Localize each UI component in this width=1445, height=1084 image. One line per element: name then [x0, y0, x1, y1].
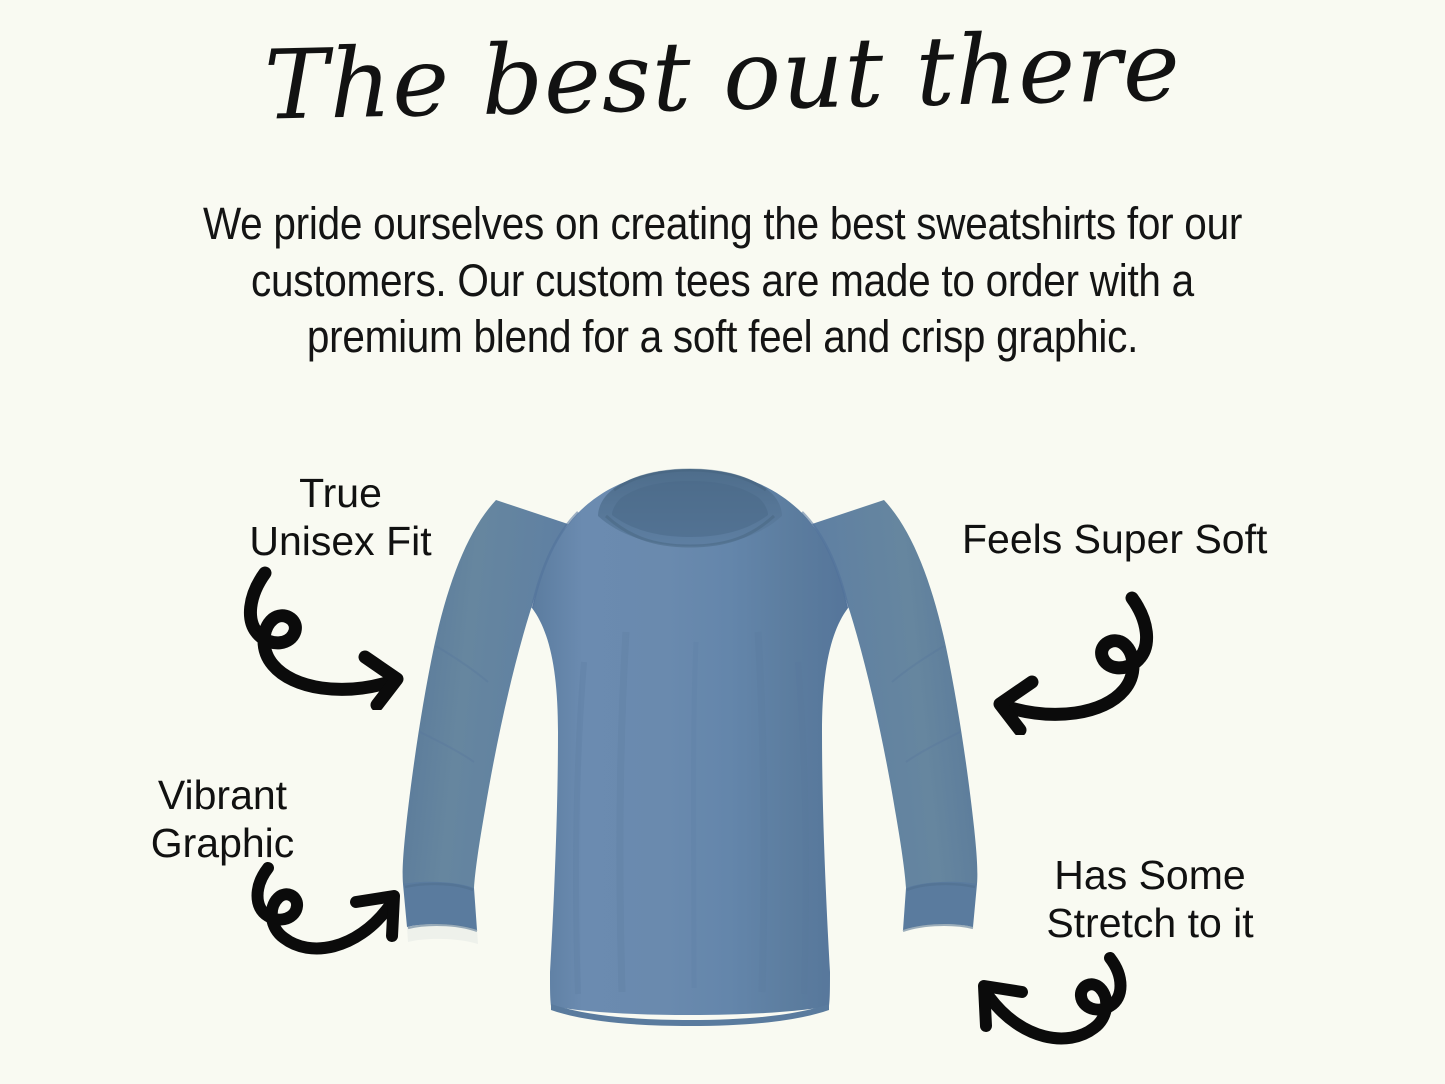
infographic-canvas: The best out there We pride ourselves on… [0, 0, 1445, 1084]
right-sleeve [812, 500, 977, 931]
feature-label-vibrant-graphic: Vibrant Graphic [125, 772, 320, 867]
feature-label-has-stretch: Has Some Stretch to it [1020, 852, 1280, 947]
curly-arrow-up-right-icon [248, 858, 420, 978]
shirt-illustration [378, 432, 1002, 1040]
curly-arrow-right-icon [237, 565, 437, 710]
shirt-body [532, 470, 848, 1026]
curly-arrow-up-left-icon [958, 948, 1130, 1068]
curly-arrow-left-icon [960, 590, 1160, 735]
feature-label-super-soft: Feels Super Soft [962, 516, 1322, 564]
feature-label-unisex-fit: True Unisex Fit [233, 470, 448, 565]
page-title: The best out there [0, 13, 1445, 139]
product-image [378, 432, 1002, 1040]
intro-paragraph: We pride ourselves on creating the best … [189, 196, 1256, 366]
